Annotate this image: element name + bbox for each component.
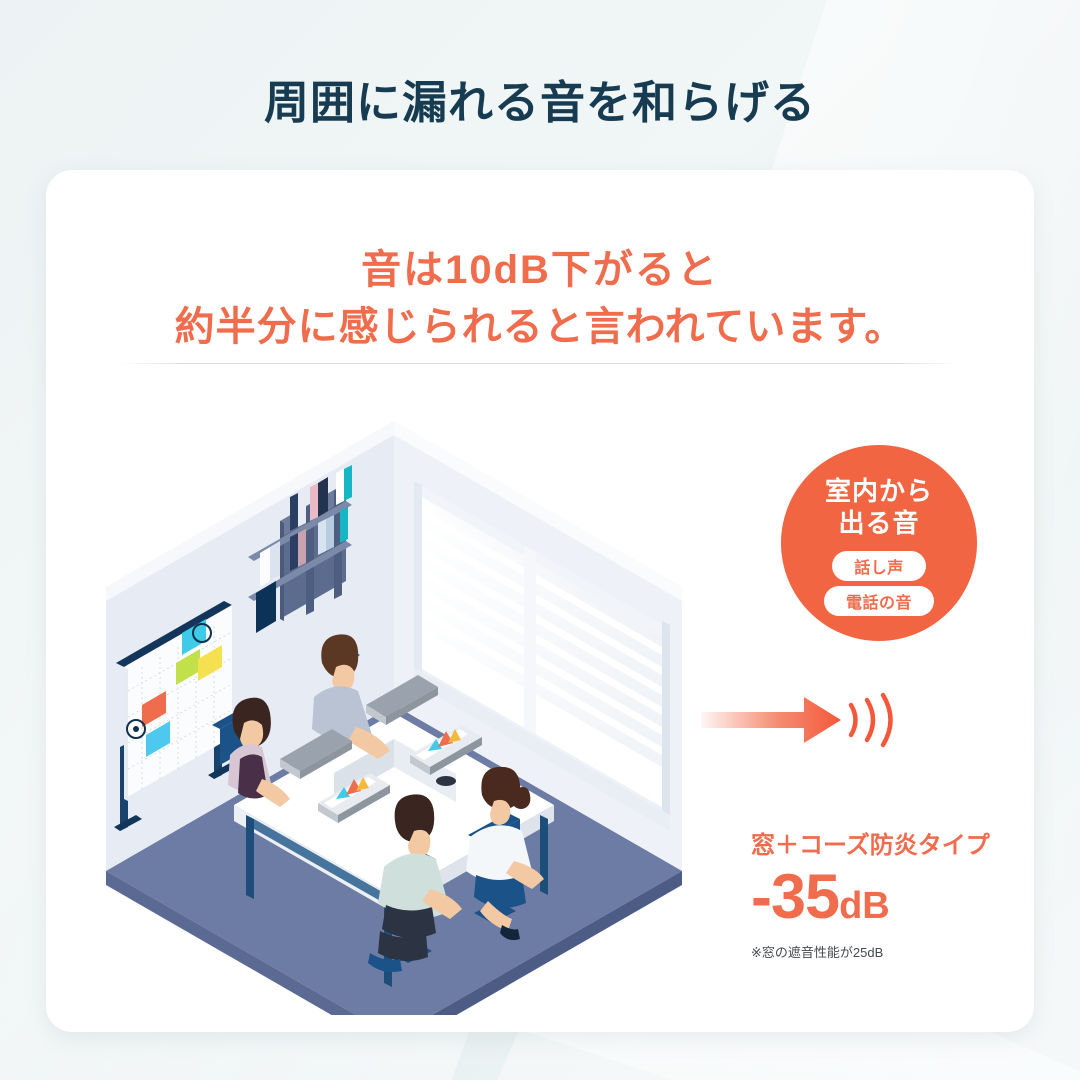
badge-title-line-2: 出る音 <box>825 508 933 540</box>
spec-value-number: -35 <box>751 862 839 932</box>
headline: 音は10dB下がると 約半分に感じられると言われています。 <box>46 242 1034 356</box>
headline-line-2: 約半分に感じられると言われています。 <box>46 299 1034 356</box>
headline-line-1: 音は10dB下がると <box>46 242 1034 299</box>
badge-title: 室内から 出る音 <box>825 476 933 539</box>
spec-block: 窓＋コーズ防炎タイプ -35dB ※窓の遮音性能が25dB <box>751 825 1016 961</box>
page-title: 周囲に漏れる音を和らげる <box>0 66 1080 131</box>
headline-divider <box>120 363 960 364</box>
spec-value: -35dB <box>751 864 1016 930</box>
spec-type-label: 窓＋コーズ防炎タイプ <box>751 825 1016 860</box>
badge-title-line-1: 室内から <box>825 476 933 508</box>
room-sound-badge: 室内から 出る音 話し声 電話の音 <box>781 445 977 641</box>
spec-value-unit: dB <box>839 885 890 927</box>
spec-note: ※窓の遮音性能が25dB <box>751 942 1016 961</box>
sound-leak-arrow <box>701 685 911 755</box>
office-illustration <box>84 375 744 1015</box>
content-card: 音は10dB下がると 約半分に感じられると言われています。 <box>46 170 1034 1032</box>
badge-pill-phone: 電話の音 <box>824 586 934 616</box>
badge-pill-voice: 話し声 <box>832 551 926 581</box>
